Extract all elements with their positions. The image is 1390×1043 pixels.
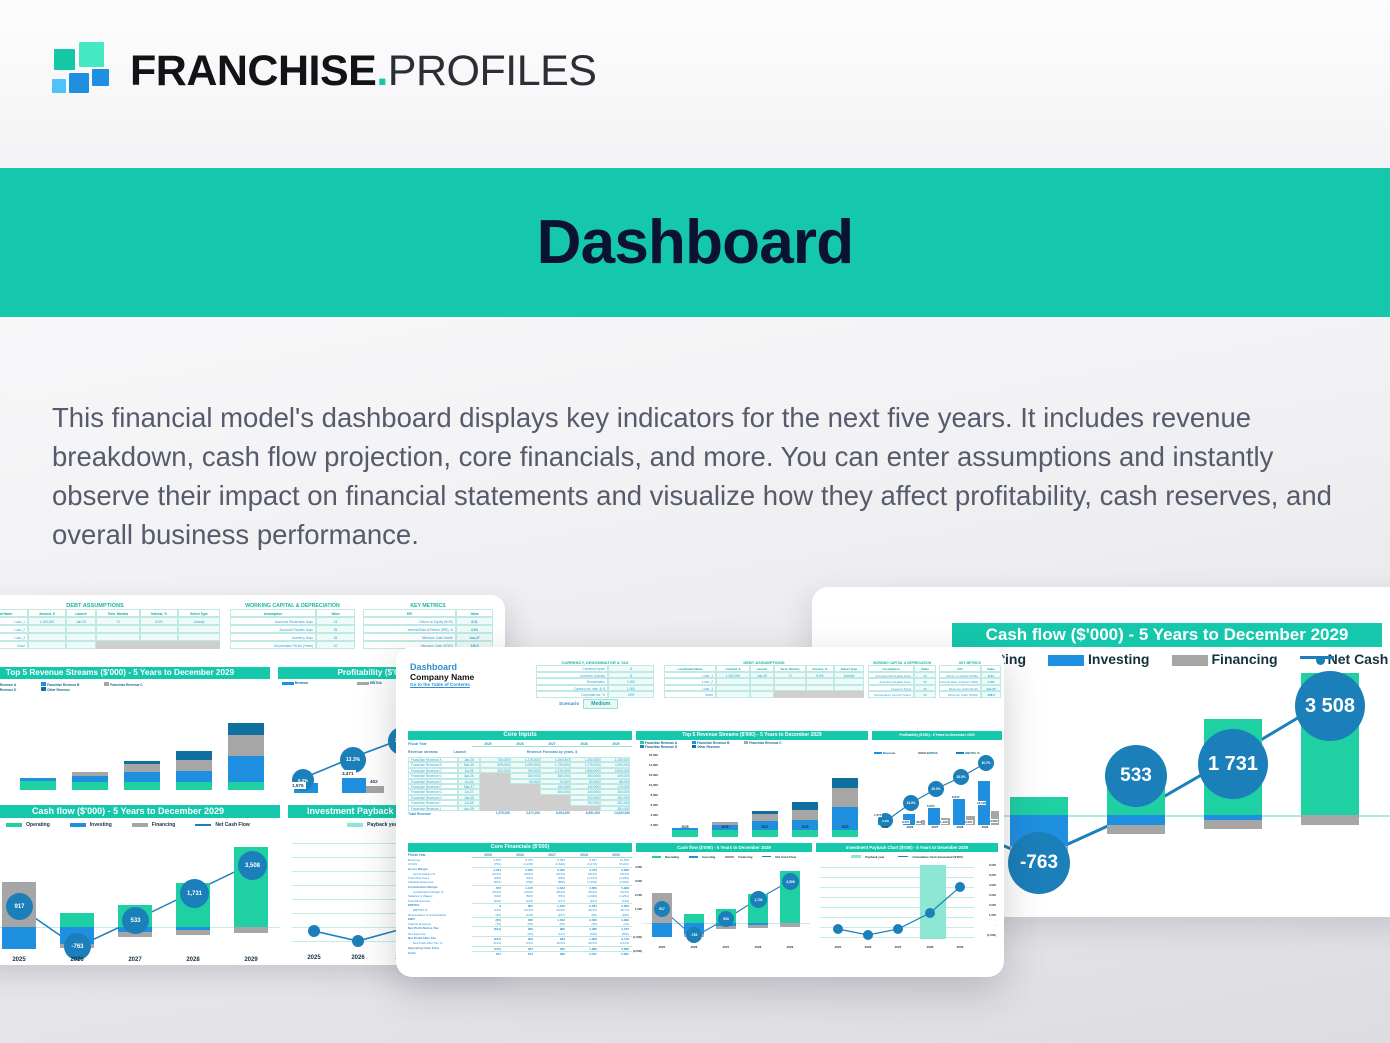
center-top5-header: Top 5 Revenue Streams ($'000) - 5 Years … [636,731,868,740]
center-payback-plot: 6,000 5,000 4,000 3,000 2,000 1,000 - (1… [820,863,974,955]
center-working-capital-table: WORKING CAPITAL & DEPRECIATION Assumptio… [868,661,936,698]
table-row: Loan_1 1,000,000 Jan-25 72 8.0% Annuity [0,617,220,625]
center-payback-line [820,863,974,955]
currency-table: CURRENCY, DENOMINATOR & TAX Currency Inp… [536,661,654,698]
key-metrics-table: KEY METRICS KPIValue Return on Equity (R… [363,603,493,649]
right-cashflow-plot: -763 533 1 731 3 508 [1002,687,1390,872]
toc-link[interactable]: Go to the Table of Contents [410,682,474,687]
brand-name-thin: PROFILES [388,47,597,96]
left-cashflow-plot: 917 -763 533 1,731 3,508 2025 2026 2027 … [0,835,280,965]
brand-wordmark: FRANCHISE.PROFILES [130,47,596,96]
bubble-2029: 3 508 [1295,671,1365,741]
page-title: Dashboard [537,207,854,278]
center-top5-legend: Franchise Revenue A Franchise Revenue B … [640,741,864,749]
bubble-2026: -763 [1008,832,1070,894]
page-header: FRANCHISE.PROFILES [0,0,1390,168]
center-cashflow-plot: 917 -763 533 1,731 3,508 2025 2026 2027 … [644,863,810,955]
center-card-brand: Dashboard Company Name Go to the Table o… [410,662,474,687]
page-banner: Dashboard [0,168,1390,317]
legend-financing: Financing [1172,651,1278,667]
row-value: 5,925 [600,951,632,956]
bubble-2028: 1 731 [1198,729,1268,799]
table-row: Loan_3 [0,633,220,641]
row-value: 2,417 [568,951,600,956]
table-row: Cash9171546862,4175,925 [408,951,632,956]
center-card-title: Dashboard [410,662,474,672]
left-cashflow-legend: Operating Investing Financing Net Cash F… [0,820,276,830]
page-description: This financial model's dashboard display… [52,398,1342,554]
center-cashflow-legend: Operating Investing Financing Net Cash F… [638,853,810,860]
center-top5-yaxis: 16,000 14,000 12,000 10,000 8,000 6,000 … [636,753,658,835]
scenario-label: Scenario [559,702,579,707]
core-inputs-rows: Franchise Revenue AJan-25750,0001,275,00… [408,757,632,817]
row-value: 686 [536,951,568,956]
center-screenshot-card[interactable]: Dashboard Company Name Go to the Table o… [396,647,1004,977]
center-payback-legend: Payback year Cumulative Cash Generated (… [820,853,994,860]
center-cashflow-header: Cash flow ($'000) - 5 Years to December … [636,843,812,852]
core-inputs-header: Core Inputs [408,731,632,740]
left-top5-title: Top 5 Revenue Streams ($'000) - 5 Years … [0,667,270,679]
row-value: 154 [504,951,536,956]
left-top5-legend: Franchise Revenue A Franchise Revenue B … [0,682,268,692]
legend-net-cash-flow: Net Cash Flow [1300,651,1390,667]
table-header-row: Loan/Grant Name Amount, $ Launch Term, M… [0,609,220,617]
table-row: Grant [0,641,220,649]
center-payback-header: Investment Payback Chart ($'000) - 5 Yea… [816,843,998,852]
center-cashflow-yaxis: 4,000 3,000 2,000 1,000 - (1,000) (2,000… [628,861,642,949]
right-cashflow-title: Cash flow ($'000) - 5 Years to December … [952,623,1382,647]
brand-dot: . [376,47,387,96]
brand-name-bold: FRANCHISE [130,47,376,96]
table-row: Loan_2 [0,625,220,633]
scenario-value[interactable]: Medium [583,699,618,709]
bubble-2027: 533 [1105,745,1167,807]
core-financials-header: Core Financials ($'000) [408,843,632,852]
legend-investing: Investing [1048,651,1149,667]
logo-mark-icon [52,42,110,100]
core-financials-table: Fiscal Year 2025 2026 2027 2028 2029 Rev… [408,853,632,956]
center-debt-table: DEBT ASSUMPTIONS Loan/Grant Name Amount,… [664,661,864,698]
center-key-metrics-table: KEY METRICS KPIValue Return on Equity (R… [939,661,1001,698]
center-profitability-plot: 0.3% 13.3% 20.3% 26.3% 30.7% 1,575 3,471… [874,751,1000,837]
working-capital-table: WORKING CAPITAL & DEPRECIATION Assumptio… [230,603,355,649]
left-cashflow-title: Cash flow ($'000) - 5 Years to December … [0,805,280,818]
scenario-selector[interactable]: Scenario Medium [559,699,618,709]
debt-assumptions-table: DEBT ASSUMPTIONS Loan/Grant Name Amount,… [0,603,220,649]
center-top5-plot: 2025 2026 2027 2028 2029 [660,753,864,837]
screenshot-collage: & TAX $ $ 1,000 1.000 15% DEBT ASSUMPTIO… [0,565,1390,1043]
center-card-company: Company Name [410,672,474,682]
center-profitability-header: Profitability ($'000) - 5 Years to Decem… [872,731,1002,740]
left-top5-plot [4,695,270,790]
row-value: 917 [472,951,504,956]
core-inputs-year-row: Fiscal Year 2025 2026 2027 2028 2029 Rev… [408,742,632,754]
table-total-row: Total Revenue1,575,0003,471,0005,054,000… [408,811,632,817]
core-financials-rows: Revenue1,5753,4715,0546,64714,520COGS(75… [408,858,632,956]
row-label: Cash [408,951,472,956]
brand-logo: FRANCHISE.PROFILES [52,42,596,100]
